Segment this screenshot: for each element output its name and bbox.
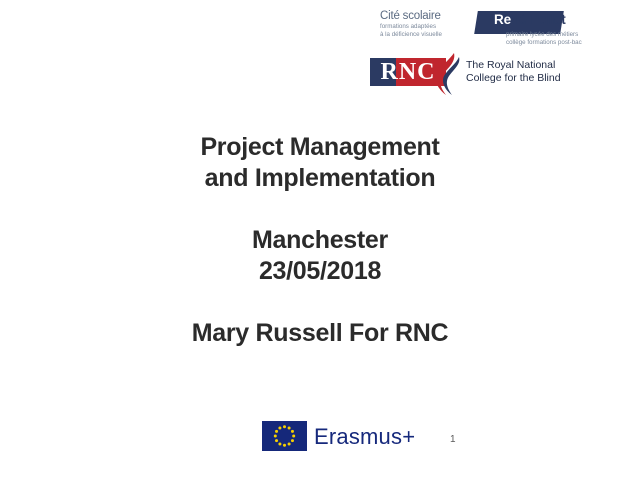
- eu-stars-circle: [262, 421, 307, 451]
- presentation-slide: Cité scolaire formations adaptées à la d…: [0, 0, 640, 480]
- rnc-ribbon-icon: [432, 52, 462, 96]
- rene-pellet-subtitle-line2: collège formations post-bac: [506, 39, 582, 47]
- eu-flag-icon: [262, 421, 307, 451]
- rnc-logo: RNC The Royal National College for the B…: [370, 52, 620, 98]
- cite-scolaire-name: Cité scolaire: [380, 10, 476, 23]
- rene-pellet-name-rest: né Pellet: [511, 12, 566, 27]
- title-spacer-2: [60, 287, 580, 318]
- partner-logo-band: Cité scolaire formations adaptées à la d…: [380, 10, 620, 100]
- cite-scolaire-logo: Cité scolaire formations adaptées à la d…: [380, 10, 476, 38]
- title-line-project-management: Project Management: [60, 132, 580, 163]
- title-line-location: Manchester: [60, 225, 580, 256]
- rene-pellet-name: René Pellet: [494, 12, 566, 28]
- title-line-date: 23/05/2018: [60, 256, 580, 287]
- title-line-and-implementation: and Implementation: [60, 163, 580, 194]
- title-line-author: Mary Russell For RNC: [60, 318, 580, 349]
- rene-pellet-subtitle: primaire lycée des métiers collège forma…: [506, 31, 582, 47]
- rnc-name-line2: College for the Blind: [466, 72, 561, 85]
- rene-pellet-subtitle-line1: primaire lycée des métiers: [506, 31, 582, 39]
- erasmus-wordmark: Erasmus+: [314, 424, 415, 450]
- rnc-full-name: The Royal National College for the Blind: [466, 59, 561, 85]
- rnc-name-line1: The Royal National: [466, 59, 561, 72]
- cite-scolaire-subtitle-line1: formations adaptées: [380, 23, 476, 31]
- cite-scolaire-subtitle-line2: à la déficience visuelle: [380, 31, 476, 39]
- title-spacer-1: [60, 194, 580, 225]
- rene-pellet-logo: René Pellet primaire lycée des métiers c…: [476, 10, 620, 50]
- rene-pellet-name-highlight: Re: [494, 12, 511, 27]
- slide-page-number: 1: [450, 434, 456, 446]
- slide-title-block: Project Management and Implementation Ma…: [60, 132, 580, 349]
- erasmus-plus-logo: Erasmus+: [262, 421, 422, 457]
- cite-scolaire-rene-pellet-logo: Cité scolaire formations adaptées à la d…: [380, 10, 620, 50]
